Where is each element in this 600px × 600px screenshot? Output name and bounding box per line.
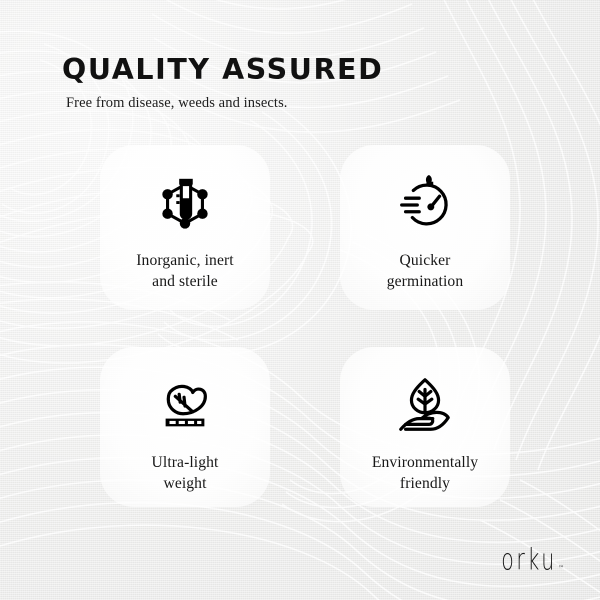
feature-card-inorganic: Inorganic, inert and sterile: [100, 145, 270, 310]
feature-card-germination: Quicker germination: [340, 145, 510, 310]
feature-card-eco: Environmentally friendly: [340, 347, 510, 507]
feature-card-label: Ultra-light weight: [152, 453, 219, 494]
feature-card-label: Inorganic, inert and sterile: [136, 251, 233, 292]
promo-graphic: QUALITY ASSURED Free from disease, weeds…: [0, 0, 600, 600]
brand-logo: orku ™: [489, 549, 564, 574]
molecule-test-tube-icon: [154, 173, 216, 235]
feature-card-lightweight: Ultra-light weight: [100, 347, 270, 507]
feather-scale-icon: [154, 375, 216, 437]
hand-leaf-icon: [394, 375, 456, 437]
feature-card-grid: Inorganic, inert and sterile: [100, 145, 510, 507]
trademark-symbol: ™: [558, 566, 564, 572]
feature-card-label: Environmentally friendly: [372, 453, 478, 494]
header: QUALITY ASSURED Free from disease, weeds…: [62, 55, 383, 112]
brand-logo-wordmark: orku: [501, 545, 557, 575]
stopwatch-speed-icon: [394, 173, 456, 235]
page-title: QUALITY ASSURED: [62, 55, 383, 85]
page-subtitle: Free from disease, weeds and insects.: [66, 95, 383, 112]
feature-card-label: Quicker germination: [387, 251, 463, 292]
